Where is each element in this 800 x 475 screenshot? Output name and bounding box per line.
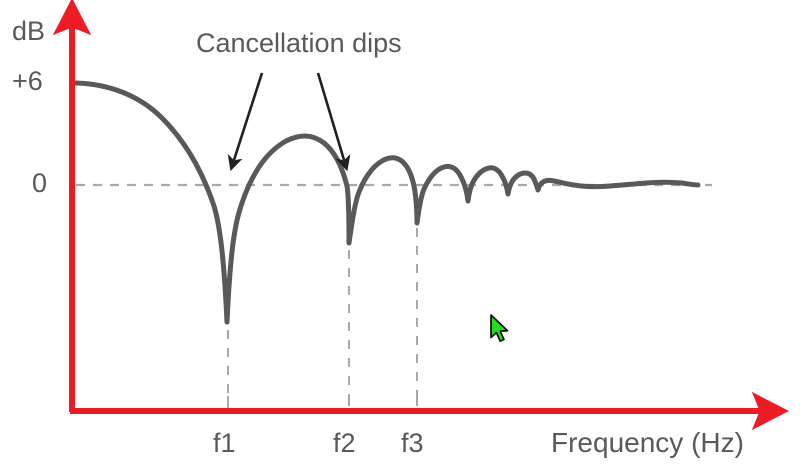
x-axis-title: Frequency (Hz) — [551, 427, 744, 459]
response-curve — [76, 83, 698, 322]
y-tick-label-plus6: +6 — [12, 66, 43, 97]
annotation-label: Cancellation dips — [196, 28, 402, 59]
frequency-response-plot — [0, 0, 800, 475]
y-tick-label-zero: 0 — [32, 168, 47, 199]
figure-canvas: dB +6 0 f1 f2 f3 Frequency (Hz) Cancella… — [0, 0, 800, 475]
y-axis-title: dB — [12, 16, 45, 47]
x-tick-label-f2: f2 — [333, 428, 356, 459]
x-tick-label-f3: f3 — [401, 428, 424, 459]
x-tick-label-f1: f1 — [213, 428, 236, 459]
annotation-arrow-left — [234, 73, 262, 160]
